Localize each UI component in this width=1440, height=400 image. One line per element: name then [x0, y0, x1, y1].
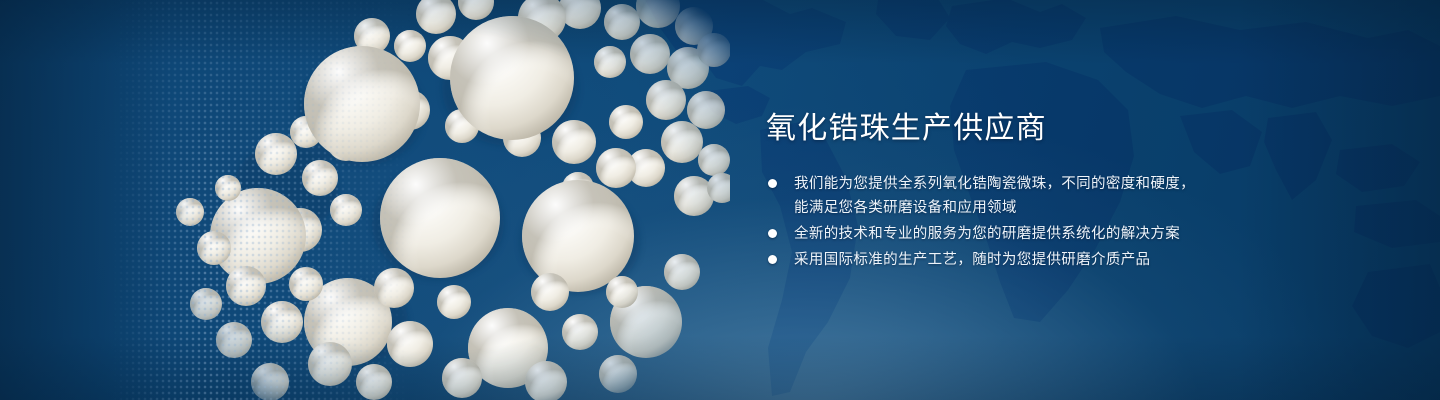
bullet-dot-icon: [768, 229, 777, 238]
bullet-dot-icon: [768, 179, 777, 188]
bullet-line: 采用国际标准的生产工艺，随时为您提供研磨介质产品: [794, 248, 1366, 272]
list-item: 全新的技术和专业的服务为您的研磨提供系统化的解决方案: [766, 222, 1366, 246]
hero-banner: 氧化锆珠生产供应商 我们能为您提供全系列氧化锆陶瓷微珠，不同的密度和硬度， 能满…: [0, 0, 1440, 400]
bullet-line: 我们能为您提供全系列氧化锆陶瓷微珠，不同的密度和硬度，: [794, 172, 1366, 196]
bullet-line: 能满足您各类研磨设备和应用领域: [794, 196, 1366, 220]
zirconia-bead-cluster-photo: [110, 0, 730, 400]
page-title: 氧化锆珠生产供应商: [766, 110, 1366, 148]
bullet-line: 全新的技术和专业的服务为您的研磨提供系统化的解决方案: [794, 222, 1366, 246]
bullet-text: 全新的技术和专业的服务为您的研磨提供系统化的解决方案: [794, 222, 1366, 246]
bullet-text: 我们能为您提供全系列氧化锆陶瓷微珠，不同的密度和硬度， 能满足您各类研磨设备和应…: [794, 172, 1366, 220]
feature-bullet-list: 我们能为您提供全系列氧化锆陶瓷微珠，不同的密度和硬度， 能满足您各类研磨设备和应…: [766, 172, 1366, 272]
list-item: 我们能为您提供全系列氧化锆陶瓷微珠，不同的密度和硬度， 能满足您各类研磨设备和应…: [766, 172, 1366, 220]
bullet-dot-icon: [768, 255, 777, 264]
bullet-text: 采用国际标准的生产工艺，随时为您提供研磨介质产品: [794, 248, 1366, 272]
list-item: 采用国际标准的生产工艺，随时为您提供研磨介质产品: [766, 248, 1366, 272]
banner-copy: 氧化锆珠生产供应商 我们能为您提供全系列氧化锆陶瓷微珠，不同的密度和硬度， 能满…: [766, 110, 1366, 274]
